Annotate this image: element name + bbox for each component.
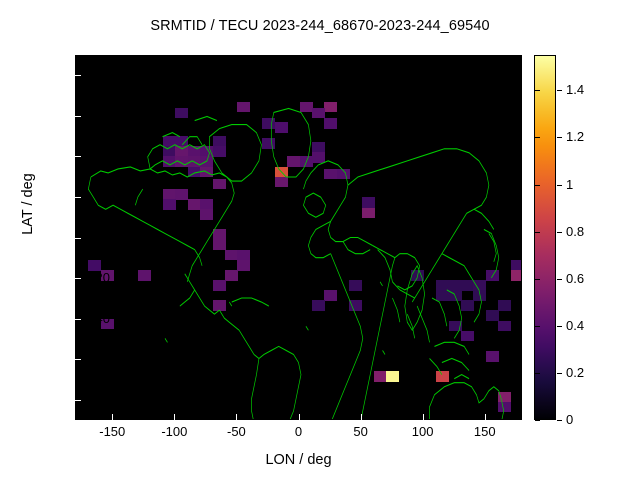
- x-tick-label: 0: [269, 424, 329, 439]
- x-tick-mark: [299, 414, 300, 420]
- colorbar-tick-mark: [557, 185, 562, 186]
- colorbar-tick-mark-inner: [535, 137, 540, 138]
- x-tick-mark: [423, 414, 424, 420]
- x-tick-mark: [174, 414, 175, 420]
- colorbar-tick-mark-inner: [535, 232, 540, 233]
- colorbar-tick-mark-inner: [535, 420, 540, 421]
- x-tick-mark: [361, 414, 362, 420]
- colorbar-tick-mark: [557, 232, 562, 233]
- y-tick-mark: [75, 278, 81, 279]
- colorbar: [534, 55, 556, 420]
- colorbar-tick-mark-inner: [535, 326, 540, 327]
- y-tick-mark: [75, 197, 81, 198]
- map-plot-area: [75, 55, 522, 420]
- x-tick-label: -150: [82, 424, 142, 439]
- x-tick-mark: [236, 414, 237, 420]
- colorbar-gradient: [535, 56, 555, 419]
- y-tick-mark: [75, 319, 81, 320]
- colorbar-tick-mark-inner: [535, 279, 540, 280]
- colorbar-tick-label: 1.2: [566, 129, 612, 144]
- x-tick-mark: [112, 414, 113, 420]
- colorbar-tick-mark: [557, 137, 562, 138]
- colorbar-tick-label: 0.2: [566, 365, 612, 380]
- y-tick-mark: [75, 156, 81, 157]
- y-tick-mark: [75, 400, 81, 401]
- colorbar-tick-label: 0.8: [566, 224, 612, 239]
- x-tick-mark: [485, 414, 486, 420]
- colorbar-tick-mark: [557, 279, 562, 280]
- x-tick-label: 50: [331, 424, 391, 439]
- colorbar-tick-mark-inner: [535, 185, 540, 186]
- y-tick-mark: [75, 116, 81, 117]
- colorbar-tick-mark: [557, 420, 562, 421]
- coastline-overlay: [76, 56, 521, 419]
- y-axis-label: LAT / deg: [20, 84, 36, 324]
- colorbar-tick-label: 0.4: [566, 318, 612, 333]
- x-tick-label: -100: [144, 424, 204, 439]
- colorbar-tick-label: 0: [566, 412, 612, 427]
- colorbar-tick-mark: [557, 373, 562, 374]
- x-tick-label: 150: [455, 424, 515, 439]
- x-axis-label: LON / deg: [75, 452, 522, 468]
- y-tick-mark: [75, 75, 81, 76]
- chart-title: SRMTID / TECU 2023-244_68670-2023-244_69…: [0, 18, 640, 34]
- colorbar-tick-mark-inner: [535, 373, 540, 374]
- figure: SRMTID / TECU 2023-244_68670-2023-244_69…: [0, 0, 640, 480]
- colorbar-tick-label: 0.6: [566, 271, 612, 286]
- y-tick-mark: [75, 359, 81, 360]
- x-tick-label: 100: [393, 424, 453, 439]
- colorbar-tick-label: 1.4: [566, 82, 612, 97]
- y-tick-mark: [75, 238, 81, 239]
- colorbar-tick-mark-inner: [535, 90, 540, 91]
- x-tick-label: -50: [206, 424, 266, 439]
- colorbar-tick-mark: [557, 326, 562, 327]
- colorbar-tick-label: 1: [566, 177, 612, 192]
- colorbar-tick-mark: [557, 90, 562, 91]
